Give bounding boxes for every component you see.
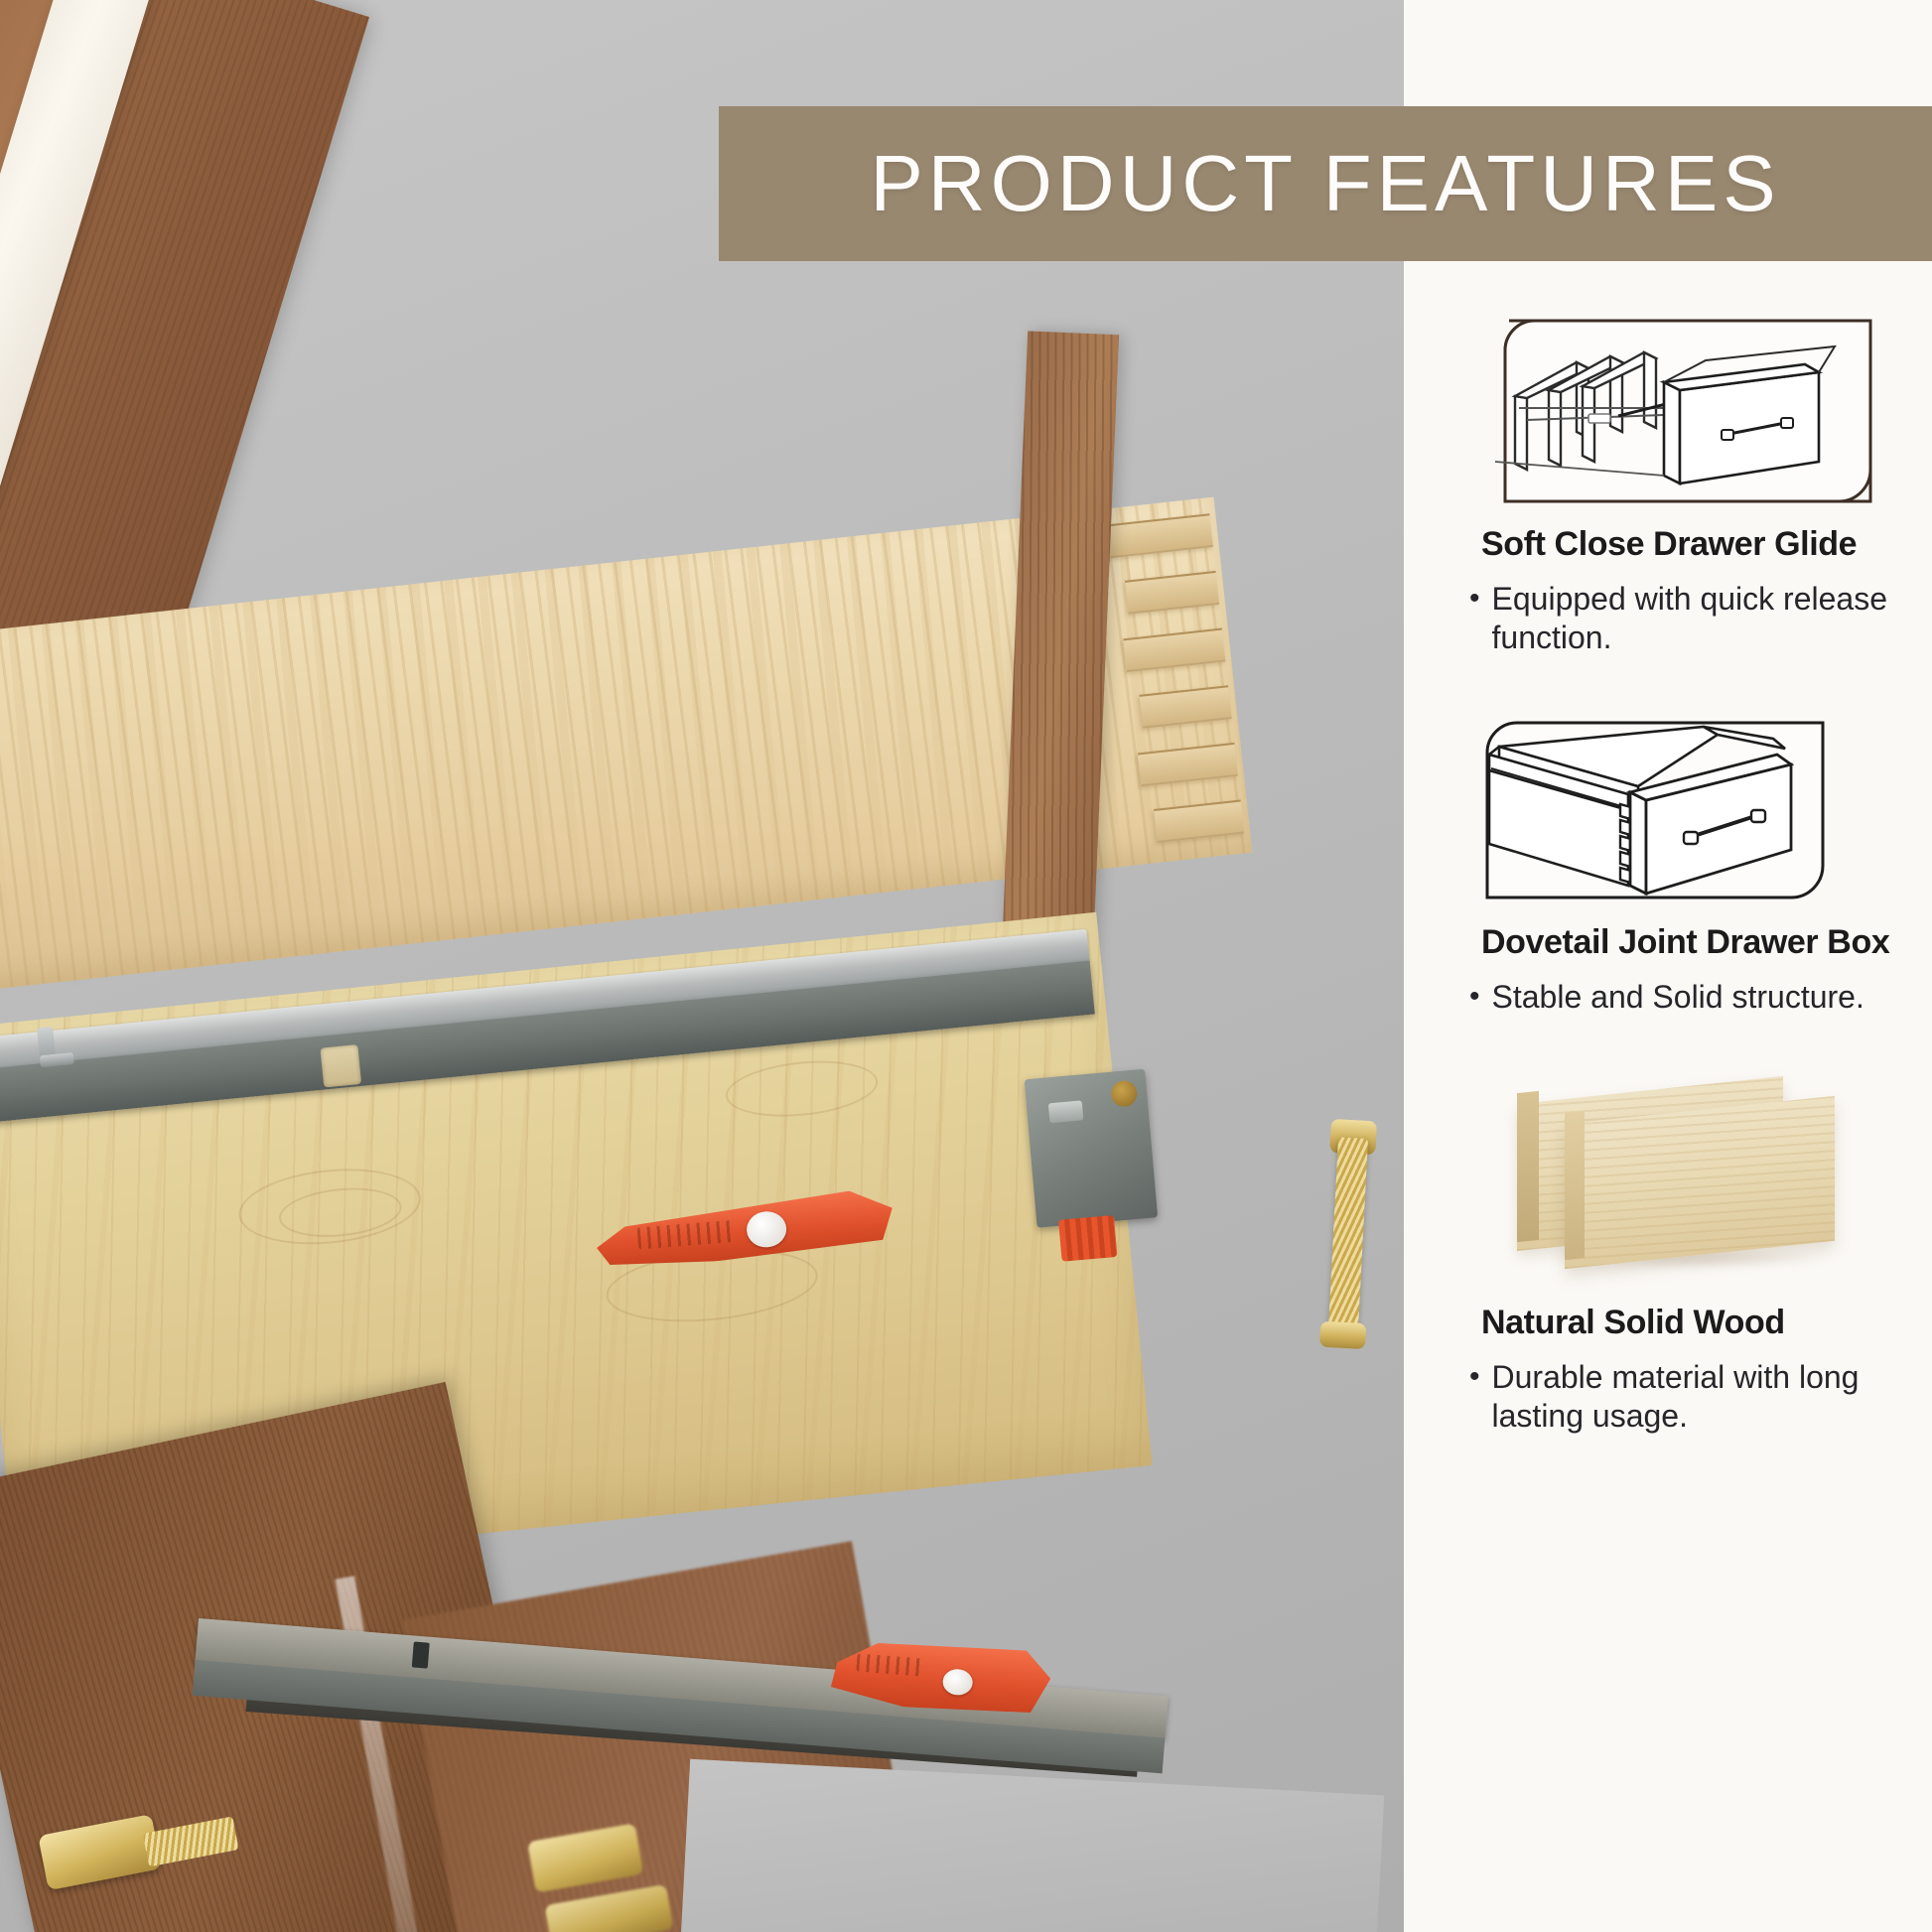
feature-title: Dovetail Joint Drawer Box [1481, 923, 1932, 962]
feature-item-soft-close-drawer-glide: Soft Close Drawer Glide • Equipped with … [1404, 311, 1932, 657]
bullet-marker: • [1469, 978, 1480, 1017]
wood-plank-back-edge [1517, 1091, 1539, 1242]
mechanism-plate [1025, 1069, 1159, 1228]
handle-cap-bottom [1319, 1321, 1366, 1349]
feature-item-natural-solid-wood: Natural Solid Wood • Durable material wi… [1404, 1062, 1932, 1436]
wood-plank-front [1565, 1096, 1835, 1270]
feature-panel: Soft Close Drawer Glide • Equipped with … [1404, 0, 1932, 1932]
feature-list: Soft Close Drawer Glide • Equipped with … [1404, 261, 1932, 1442]
product-features-infographic: Soft Close Drawer Glide • Equipped with … [0, 0, 1932, 1932]
bullet-marker: • [1469, 580, 1480, 657]
handle-knurled-bar [1328, 1137, 1368, 1332]
soft-close-mechanism [1025, 1065, 1200, 1277]
handle-cap-lower [544, 1884, 673, 1932]
page-title: PRODUCT FEATURES [870, 138, 1780, 229]
feature-bullet: • Durable material with long lasting usa… [1469, 1358, 1906, 1436]
mechanism-orange-clip [1058, 1215, 1117, 1262]
dovetail-drawer-box-line-art-icon [1469, 709, 1906, 909]
product-photo [0, 0, 1404, 1932]
feature-bullet: • Stable and Solid structure. [1469, 978, 1906, 1017]
header-banner: PRODUCT FEATURES [719, 106, 1932, 261]
lower-rail-notch [412, 1641, 430, 1668]
bullet-text: Durable material with long lasting usage… [1492, 1358, 1906, 1436]
drawer-glide-line-art-icon [1469, 311, 1906, 511]
bullet-marker: • [1469, 1358, 1480, 1436]
bullet-text: Stable and Solid structure. [1492, 978, 1864, 1017]
feature-item-dovetail-joint-drawer-box: Dovetail Joint Drawer Box • Stable and S… [1404, 709, 1932, 1017]
feature-title: Natural Solid Wood [1481, 1304, 1932, 1342]
feature-bullet: • Equipped with quick release function. [1469, 580, 1906, 657]
solid-wood-planks-photo-icon [1469, 1062, 1906, 1276]
slide-rail-notch [320, 1044, 361, 1088]
feature-title: Soft Close Drawer Glide [1481, 525, 1932, 564]
wood-plank-front-edge [1565, 1111, 1585, 1260]
bullet-text: Equipped with quick release function. [1492, 580, 1906, 657]
